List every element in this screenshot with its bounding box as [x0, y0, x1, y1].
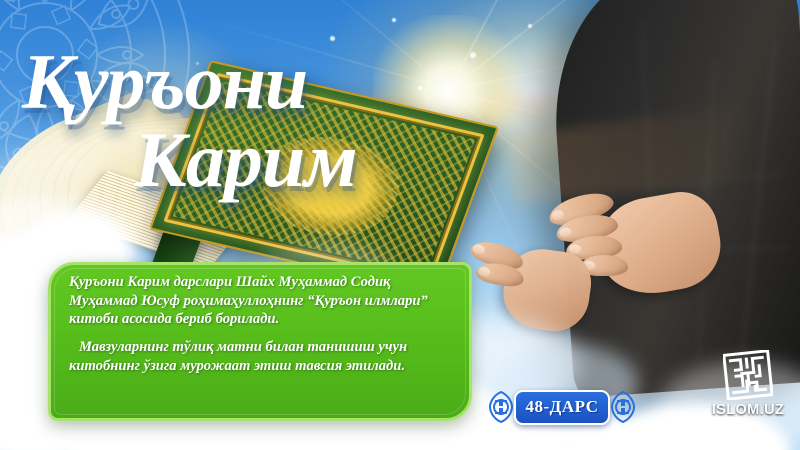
kufic-square-calligraphy-icon — [723, 350, 773, 400]
description-paragraph-2: Мавзуларнинг тўлиқ матни билан танишиш у… — [69, 338, 457, 375]
description-panel: Қуръони Карим дарслари Шайх Муҳаммад Сод… — [48, 262, 472, 421]
kufic-rosette-icon — [610, 390, 636, 424]
kufic-rosette-icon — [488, 390, 514, 424]
lesson-badge-label: 48-ДАРС — [525, 397, 598, 417]
lesson-badge[interactable]: 48-ДАРС — [488, 389, 636, 425]
description-paragraph-1: Қуръони Карим дарслари Шайх Муҳаммад Сод… — [69, 273, 457, 329]
description-text: Қуръони Карим дарслари Шайх Муҳаммад Сод… — [69, 273, 457, 375]
lesson-badge-pill[interactable]: 48-ДАРС — [514, 390, 610, 425]
poster-canvas: Қуръони Карим Қуръони Карим дарслари Шай… — [0, 0, 800, 450]
islom-uz-logo[interactable]: ISLOM.UZ — [706, 350, 790, 426]
logo-text: ISLOM.UZ — [712, 402, 784, 418]
